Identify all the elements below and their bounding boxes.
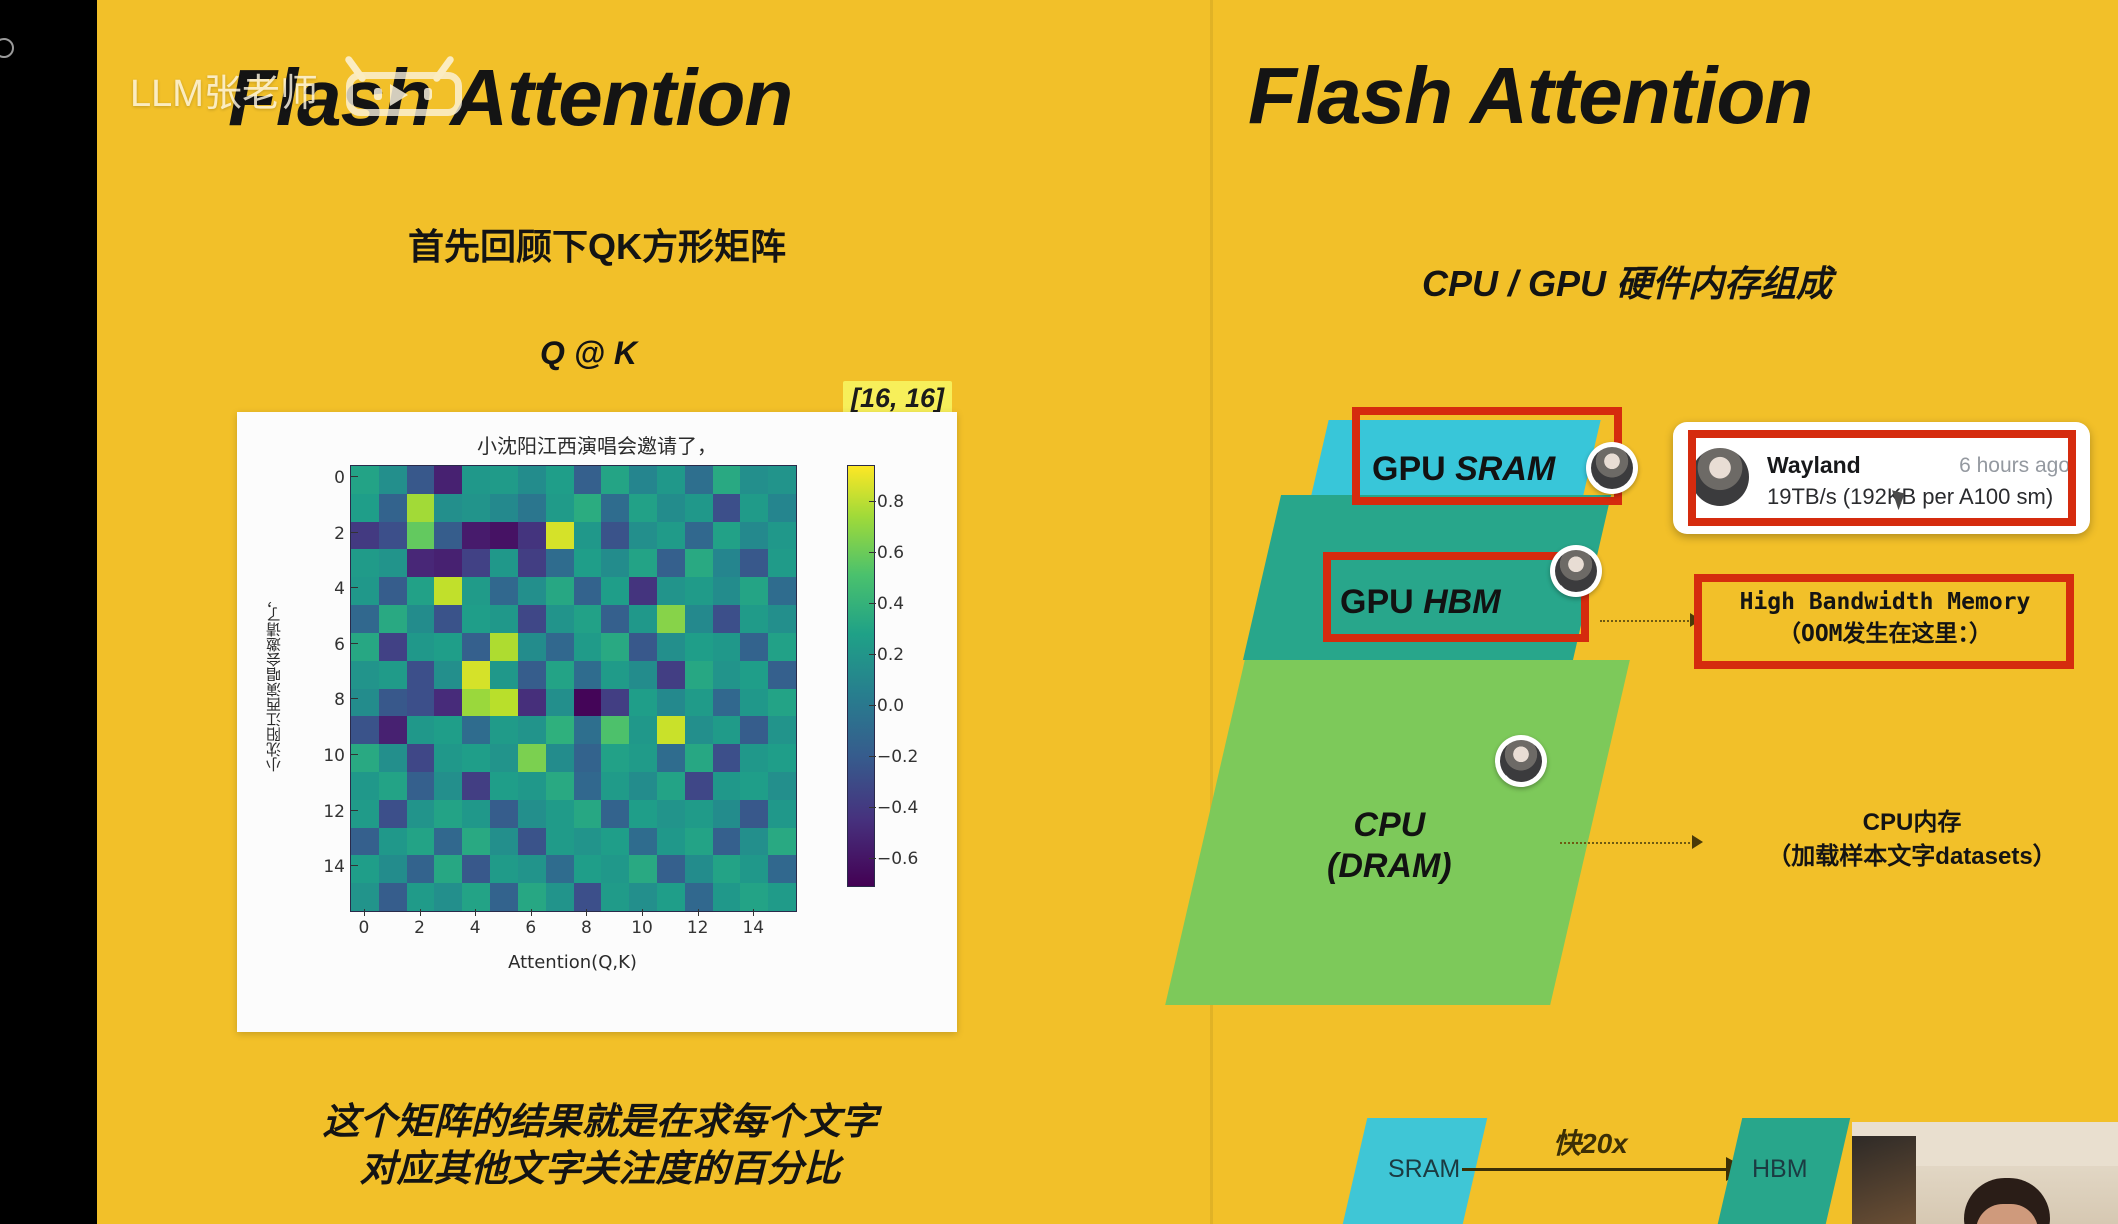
heatmap-cell [768,800,796,828]
heatmap-cell [407,661,435,689]
heatmap-cell [379,466,407,494]
heatmap-cell [601,661,629,689]
heatmap-cell [768,744,796,772]
heatmap-cell [462,605,490,633]
heatmap-cell [434,522,462,550]
colorbar-tick: 0.0 [877,696,904,716]
letterbox-left [0,0,97,1224]
heatmap-cell [462,800,490,828]
heatmap-title: 小沈阳江西演唱会邀请了， [237,430,957,459]
heatmap-cell [713,772,741,800]
heatmap-cell [434,605,462,633]
left-slide-subtitle: 首先回顾下QK方形矩阵 [408,218,786,270]
colorbar-tick: −0.6 [877,849,918,869]
heatmap-cell [518,605,546,633]
heatmap-cell [490,466,518,494]
heatmap-cell [518,744,546,772]
heatmap-cell [574,716,602,744]
heatmap-cell [601,605,629,633]
heatmap-cell [713,605,741,633]
heatmap-cell [574,689,602,717]
heatmap-cell [685,605,713,633]
heatmap-cell [685,549,713,577]
heatmap-y-tick: 2 [315,524,345,544]
mini-sram-label: SRAM [1388,1155,1460,1184]
heatmap-cell [490,689,518,717]
heatmap-cell [768,494,796,522]
hbm-annotation: High Bandwidth Memory （OOM发生在这里：） [1706,586,2064,650]
heatmap-cell [546,855,574,883]
heatmap-cell [629,466,657,494]
cpu-connector-arrow [1692,835,1703,849]
heatmap-cell [685,883,713,911]
heatmap-cell [434,855,462,883]
heatmap-cell [657,744,685,772]
comment-bubble-hbm[interactable] [1550,545,1602,597]
heatmap-cell [407,549,435,577]
heatmap-cell [379,800,407,828]
heatmap-cell [740,800,768,828]
cpu-connector-line [1560,842,1694,844]
heatmap-cell [546,466,574,494]
heatmap-cell [490,494,518,522]
heatmap-cell [657,633,685,661]
heatmap-cell [546,522,574,550]
heatmap-cell [407,716,435,744]
heatmap-cell [713,466,741,494]
heatmap-cell [379,772,407,800]
heatmap-cell [657,549,685,577]
heatmap-cell [546,605,574,633]
heatmap-cell [768,855,796,883]
heatmap-cell [629,633,657,661]
heatmap-cell [407,466,435,494]
heatmap-cell [629,883,657,911]
heatmap-x-tick: 4 [458,918,492,938]
heatmap-cell [740,772,768,800]
heatmap-cell [657,716,685,744]
heatmap-x-tick: 8 [569,918,603,938]
heatmap-y-tick: 12 [315,802,345,822]
heatmap-cell [713,522,741,550]
heatmap-cell [462,772,490,800]
heatmap-cell [407,855,435,883]
heatmap-cell [629,689,657,717]
heatmap-cell [713,689,741,717]
heatmap-cell [379,494,407,522]
heatmap-cell [462,577,490,605]
cpu-dram-label: CPU (DRAM) [1327,805,1452,888]
heatmap-cell [490,661,518,689]
heatmap-cell [379,549,407,577]
heatmap-cell [685,744,713,772]
heatmap-cell [657,828,685,856]
hbm-connector-line [1600,620,1692,622]
heatmap-cell [685,577,713,605]
heatmap-cell [574,855,602,883]
heatmap-cell [379,744,407,772]
heatmap-cell [574,466,602,494]
heatmap-cell [574,633,602,661]
video-player-frame: Flash Attention LLM张老师 首先回顾下QK方形矩阵 Q @ K… [0,0,2118,1224]
heatmap-cell [351,661,379,689]
heatmap-cell [574,800,602,828]
heatmap-cell [713,661,741,689]
colorbar-tick: 0.4 [877,594,904,614]
heatmap-cell [740,855,768,883]
heatmap-cell [601,577,629,605]
heatmap-cell [434,689,462,717]
heatmap-cell [629,744,657,772]
heatmap-cell [490,522,518,550]
heatmap-cell [434,716,462,744]
caption-line-2: 对应其他文字关注度的百分比 [300,1145,900,1192]
heatmap-cell [713,633,741,661]
heatmap-cell [462,661,490,689]
heatmap-cell [351,828,379,856]
heatmap-cell [657,466,685,494]
heatmap-cell [434,577,462,605]
cpu-annotation-line-2: （加载样本文字datasets） [1722,840,2102,874]
colorbar-tick: −0.2 [877,747,918,767]
heatmap-cell [768,828,796,856]
heatmap-cell [601,716,629,744]
heatmap-cell [574,828,602,856]
heatmap-cell [490,855,518,883]
heatmap-x-tick: 6 [514,918,548,938]
colorbar-tick: 0.8 [877,492,904,512]
heatmap-cell [379,661,407,689]
heatmap-cell [546,828,574,856]
heatmap-cell [351,633,379,661]
heatmap-cell [768,466,796,494]
heatmap-cell [657,855,685,883]
heatmap-cell [601,494,629,522]
heatmap-cell [462,716,490,744]
heatmap-cell [574,744,602,772]
heatmap-cell [351,689,379,717]
heatmap-cell [379,605,407,633]
comment-highlight-box [1688,430,2076,526]
heatmap-cell [740,689,768,717]
heatmap-cell [407,828,435,856]
heatmap-cell [434,466,462,494]
heatmap-cell [629,828,657,856]
comment-bubble-sram[interactable] [1586,442,1638,494]
heatmap-x-tick: 0 [347,918,381,938]
heatmap-cell [462,466,490,494]
heatmap-y-tick: 0 [315,468,345,488]
heatmap-cell [713,716,741,744]
heatmap-cell [768,689,796,717]
heatmap-cell [768,772,796,800]
heatmap-cell [685,828,713,856]
heatmap-y-tick: 14 [315,857,345,877]
heatmap-cell [713,744,741,772]
heatmap-cell [629,605,657,633]
heatmap-cell [546,494,574,522]
heatmap-cell [657,800,685,828]
comment-bubble-cpu[interactable] [1495,735,1547,787]
heatmap-cell [601,549,629,577]
heatmap-cell [685,494,713,522]
heatmap-cell [601,772,629,800]
heatmap-cell [740,494,768,522]
heatmap-cell [379,828,407,856]
heatmap-cell [351,577,379,605]
heatmap-cell [351,466,379,494]
heatmap-cell [629,716,657,744]
heatmap-cell [740,466,768,494]
heatmap-cell [629,577,657,605]
heatmap-cell [546,883,574,911]
heatmap-grid [350,465,797,912]
heatmap-cell [629,855,657,883]
heatmap-cell [685,800,713,828]
hbm-annotation-line-2: （OOM发生在这里：） [1706,618,2064,650]
heatmap-cell [768,522,796,550]
heatmap-cell [434,661,462,689]
heatmap-cell [351,772,379,800]
heatmap-cell [518,661,546,689]
left-slide-caption: 这个矩阵的结果就是在求每个文字 对应其他文字关注度的百分比 [300,1098,900,1193]
heatmap-cell [629,494,657,522]
heatmap-x-tick: 10 [625,918,659,938]
hbm-highlight-box [1323,552,1589,642]
heatmap-cell [657,883,685,911]
heatmap-cell [434,828,462,856]
heatmap-cell [379,577,407,605]
heatmap-cell [685,522,713,550]
heatmap-cell [351,744,379,772]
heatmap-cell [462,883,490,911]
heatmap-cell [407,772,435,800]
heatmap-cell [462,549,490,577]
heatmap-cell [434,549,462,577]
heatmap-cell [713,577,741,605]
heatmap-cell [351,716,379,744]
heatmap-cell [546,800,574,828]
heatmap-cell [407,633,435,661]
heatmap-cell [601,744,629,772]
heatmap-cell [601,855,629,883]
heatmap-cell [740,661,768,689]
heatmap-cell [490,800,518,828]
heatmap-cell [629,661,657,689]
heatmap-cell [462,494,490,522]
heatmap-cell [351,549,379,577]
heatmap-cell [434,800,462,828]
heatmap-cell [379,522,407,550]
heatmap-cell [768,716,796,744]
heatmap-y-tick: 8 [315,690,345,710]
heatmap-cell [518,883,546,911]
cpu-annotation: CPU内存 （加载样本文字datasets） [1722,806,2102,874]
heatmap-cell [379,689,407,717]
heatmap-cell [379,716,407,744]
heatmap-cell [657,689,685,717]
hbm-annotation-line-1: High Bandwidth Memory [1706,586,2064,618]
heatmap-cell [629,800,657,828]
heatmap-cell [462,855,490,883]
webcam-overlay[interactable] [1852,1122,2118,1224]
heatmap-cell [462,633,490,661]
heatmap-cell [740,828,768,856]
heatmap-cell [713,883,741,911]
right-slide-subtitle: CPU / GPU 硬件内存组成 [1422,255,1832,307]
heatmap-cell [685,716,713,744]
heatmap-cell [518,689,546,717]
heatmap-cell [601,522,629,550]
cpu-annotation-line-1: CPU内存 [1722,806,2102,840]
heatmap-cell [462,828,490,856]
heatmap-cell [768,549,796,577]
caption-line-1: 这个矩阵的结果就是在求每个文字 [300,1098,900,1145]
heatmap-cell [601,883,629,911]
heatmap-cell [546,633,574,661]
heatmap-cell [379,633,407,661]
heatmap-cell [351,605,379,633]
left-slide-title: Flash Attention [228,52,792,144]
heatmap-cell [740,577,768,605]
heatmap-y-tick: 10 [315,746,345,766]
heatmap-cell [574,577,602,605]
heatmap-cell [407,577,435,605]
heatmap-cell [434,744,462,772]
heatmap-cell [657,661,685,689]
heatmap-cell [740,522,768,550]
heatmap-x-tick: 12 [681,918,715,938]
heatmap-cell [546,689,574,717]
heatmap-cell [518,494,546,522]
heatmap-cell [574,494,602,522]
heatmap-cell [518,522,546,550]
heatmap-cell [740,549,768,577]
heatmap-cell [518,577,546,605]
right-slide-title: Flash Attention [1248,50,1812,142]
heatmap-cell [685,633,713,661]
heatmap-cell [768,883,796,911]
heatmap-cell [490,577,518,605]
heatmap-cell [518,800,546,828]
shape-badge: [16, 16] [843,381,952,416]
heatmap-cell [518,716,546,744]
heatmap-cell [462,744,490,772]
colorbar-tick: −0.4 [877,798,918,818]
heatmap-cell [685,855,713,883]
heatmap-cell [713,549,741,577]
sram-highlight-box [1352,407,1622,505]
heatmap-cell [574,772,602,800]
heatmap-cell [490,828,518,856]
heatmap-cell [518,549,546,577]
heatmap-cell [351,855,379,883]
heatmap-cell [740,716,768,744]
heatmap-cell [407,605,435,633]
heatmap-cell [685,466,713,494]
heatmap-cell [434,883,462,911]
heatmap-cell [490,772,518,800]
heatmap-cell [574,661,602,689]
heatmap-cell [407,883,435,911]
heatmap-figure-card: 小沈阳江西演唱会邀请了， 小沈阳江西演唱会邀请了， Attention(Q,K)… [237,412,957,1032]
heatmap-cell [601,828,629,856]
webcam-foreground-object [1852,1136,1916,1224]
heatmap-cell [518,466,546,494]
heatmap-cell [546,772,574,800]
heatmap-cell [546,661,574,689]
heatmap-cell [768,605,796,633]
heatmap-cell [685,772,713,800]
heatmap-x-axis-label: Attention(Q,K) [350,952,795,973]
heatmap-cell [657,772,685,800]
heatmap-cell [657,522,685,550]
heatmap-cell [768,633,796,661]
heatmap-cell [601,633,629,661]
heatmap-cell [490,744,518,772]
heatmap-cell [685,689,713,717]
heatmap-cell [351,522,379,550]
heatmap-x-tick: 14 [736,918,770,938]
heatmap-cell [657,494,685,522]
heatmap-cell [546,577,574,605]
heatmap-y-tick: 6 [315,635,345,655]
heatmap-y-axis-label: 小沈阳江西演唱会邀请了， [263,592,284,772]
heatmap-cell [574,522,602,550]
heatmap-cell [351,800,379,828]
partial-circle-icon [0,38,14,58]
heatmap-cell [434,494,462,522]
transfer-arrow-line [1462,1168,1737,1171]
heatmap-cell [657,605,685,633]
colorbar-tick: 0.2 [877,645,904,665]
heatmap-cell [407,689,435,717]
heatmap-cell [490,883,518,911]
heatmap-cell [629,522,657,550]
heatmap-cell [407,744,435,772]
heatmap-cell [518,828,546,856]
heatmap-cell [685,661,713,689]
heatmap-cell [601,466,629,494]
heatmap-cell [379,855,407,883]
heatmap-cell [574,883,602,911]
heatmap-cell [490,605,518,633]
heatmap-cell [434,633,462,661]
heatmap-cell [713,855,741,883]
heatmap-cell [490,633,518,661]
heatmap-cell [740,883,768,911]
heatmap-cell [351,883,379,911]
heatmap-cell [713,494,741,522]
heatmap-x-tick: 2 [403,918,437,938]
heatmap-cell [351,494,379,522]
heatmap-cell [546,549,574,577]
heatmap-cell [462,689,490,717]
heatmap-cell [574,549,602,577]
mini-hbm-label: HBM [1752,1155,1808,1184]
heatmap-cell [574,605,602,633]
heatmap-cell [546,744,574,772]
heatmap-cell [379,883,407,911]
heatmap-cell [407,522,435,550]
heatmap-cell [740,744,768,772]
heatmap-cell [768,661,796,689]
heatmap-cell [713,828,741,856]
heatmap-colorbar [847,465,875,887]
panel-divider [1210,0,1213,1224]
heatmap-cell [407,494,435,522]
heatmap-cell [601,800,629,828]
